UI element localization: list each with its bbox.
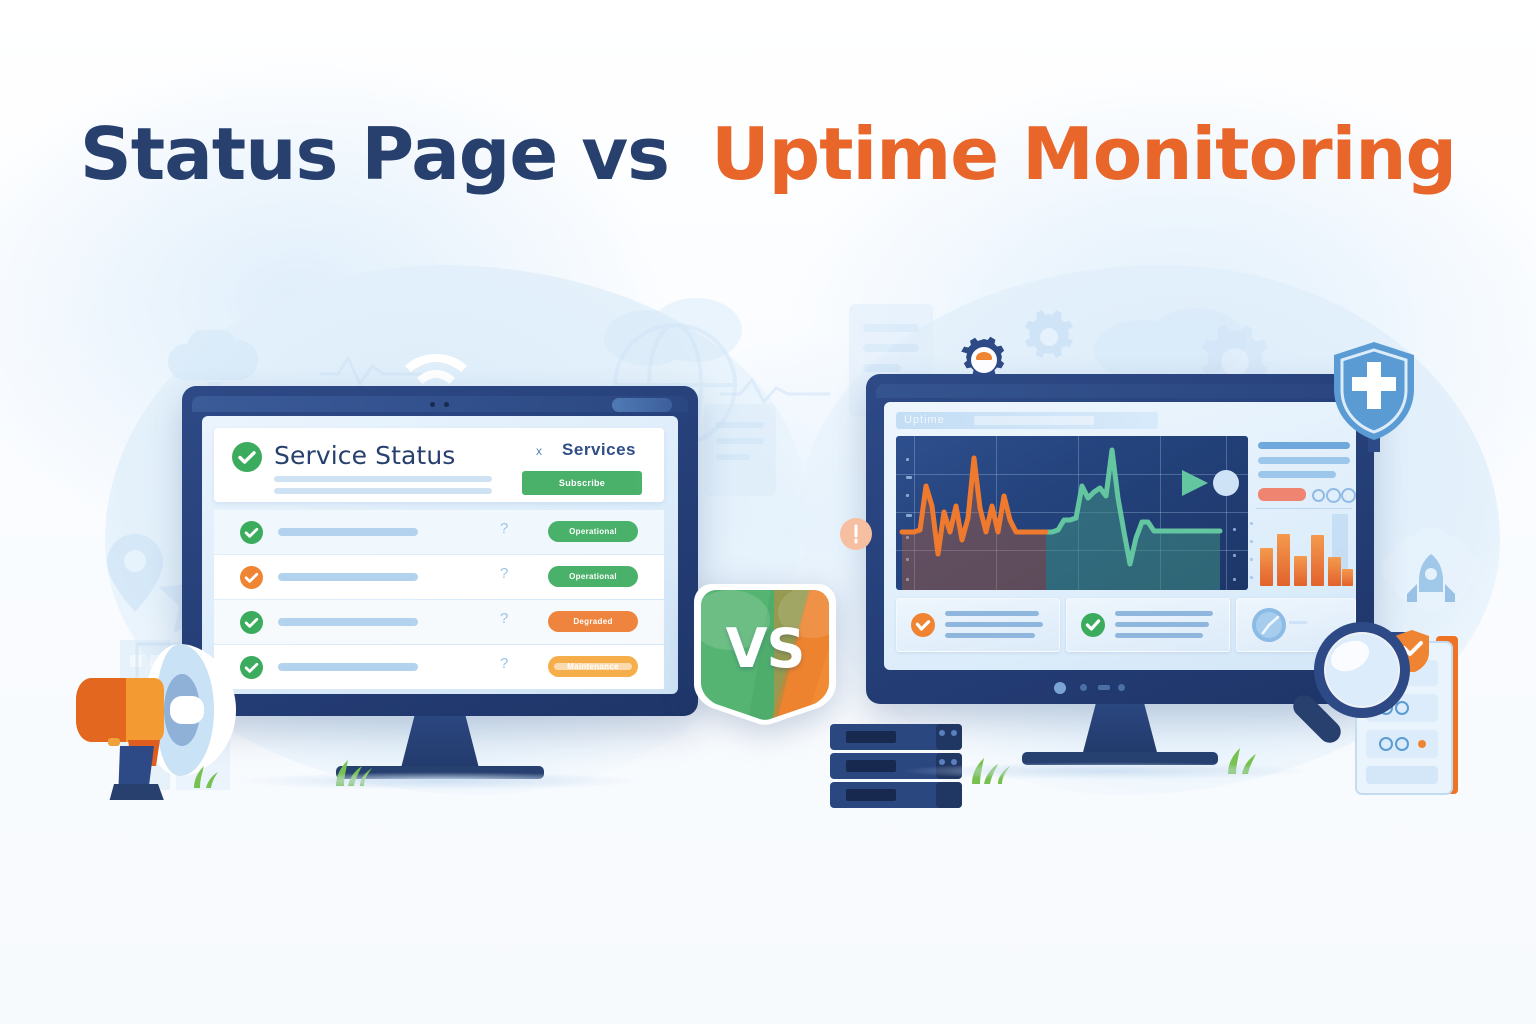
service-status-header-card: Service Status x Services Subscribe [214,428,664,502]
magnifying-glass-icon [1282,612,1422,767]
grass-decor [188,766,228,793]
subscribe-button[interactable]: Subscribe [522,471,642,495]
dashboard-topbar-label: Uptime [904,414,945,426]
vs-badge: VS [682,572,848,732]
status-card[interactable] [1066,598,1230,652]
row-meta: ? [500,520,508,537]
card-line [945,611,1039,616]
check-circle-icon [232,442,262,477]
power-led-right [1054,682,1066,694]
header-line-2 [274,488,492,494]
chart-bar [1342,569,1353,586]
status-badge: Operational [548,521,638,542]
card-line [945,633,1035,638]
topbar-placeholder-blocks [974,416,1094,425]
gear-icon-decor [1020,308,1078,366]
ground-shadow [230,772,650,790]
check-circle-icon [240,566,263,594]
chart-bar [1260,548,1273,586]
chart-bar [1277,534,1290,586]
side-divider [1256,508,1352,509]
service-status-title: Service Status [274,441,455,470]
brand-label: Services [562,440,636,460]
shield-cross-icon [1326,338,1422,463]
status-badge: Operational [548,566,638,587]
bezel-dot [1080,684,1087,691]
row-meta: ? [500,610,508,627]
chart-bar [1328,557,1341,586]
progress-indicator [554,663,632,670]
gear-icon [960,336,1008,389]
illustration-canvas: Status Page vs Uptime Monitoring Service… [0,0,1536,1024]
row-label-line [278,618,418,626]
usage-bar-chart [1256,514,1354,588]
row-meta: ? [500,655,508,672]
check-circle-icon [911,613,935,642]
row-label-line [278,528,418,536]
status-ring-3 [1341,488,1356,503]
bezel-dot [1118,684,1125,691]
header-line-1 [274,476,492,482]
status-ring-2 [1326,488,1341,503]
chart-bar [1294,556,1307,586]
warning-badge-icon [840,518,872,555]
vs-badge-label: VS [682,572,848,732]
brand-prefix-label: x [536,444,542,458]
camera-dot-left [430,402,435,407]
status-badge: Degraded [548,611,638,632]
status-card[interactable] [896,598,1060,652]
page-title-part-2: Uptime Monitoring [711,112,1456,196]
card-line [945,622,1043,627]
location-pin-icon-decor [100,530,170,616]
check-circle-icon [240,521,263,549]
side-line-3 [1258,471,1336,478]
page-title: Status Page vs Uptime Monitoring [0,118,1536,190]
ground-shadow [900,762,1320,780]
card-line [1115,611,1213,616]
table-row[interactable]: ? Operational [214,555,664,599]
page-title-part-1: Status Page vs [80,112,669,196]
card-line [1115,622,1209,627]
table-row[interactable]: ? Operational [214,510,664,554]
camera-dot-left-2 [444,402,449,407]
status-ring-1 [1312,489,1325,502]
dashboard-topbar: Uptime [896,412,1158,429]
row-meta: ? [500,565,508,582]
chart-bar [1311,535,1324,586]
play-triangle-icon [1182,470,1208,496]
response-time-chart [896,436,1248,590]
check-circle-icon [1081,613,1105,642]
monitor-topbar-right [876,384,1364,398]
card-line [1115,633,1203,638]
monitor-badge-left [612,398,672,412]
alert-bar [1258,488,1306,501]
bezel-dot [1098,685,1110,690]
row-label-line [278,573,418,581]
